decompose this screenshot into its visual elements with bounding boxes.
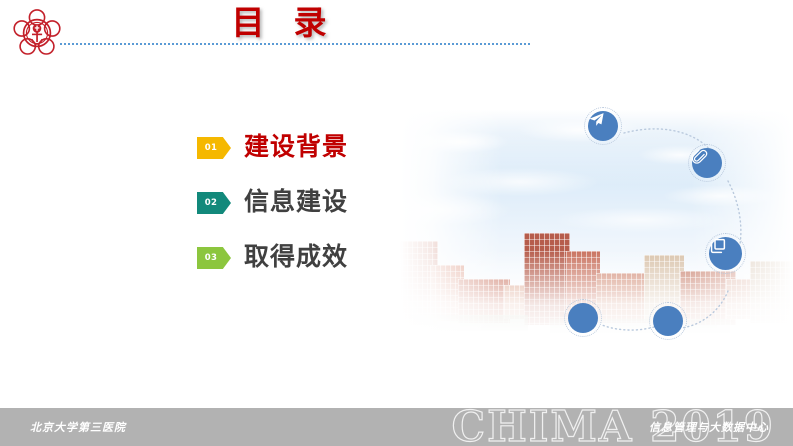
hospital-logo-icon <box>12 8 62 58</box>
node-dot-left[interactable] <box>568 303 598 333</box>
node-paperclip[interactable] <box>692 148 722 178</box>
agenda-label-03: 取得成效 <box>244 237 348 273</box>
slide-canvas: 目 录 01 建设背景 02 信息建设 03 取得成效 <box>0 0 793 446</box>
footer-left-text: 北京大学第三医院 <box>30 419 126 435</box>
node-layers[interactable] <box>709 237 742 270</box>
dot-icon <box>568 303 598 333</box>
paper-plane-icon <box>588 111 605 128</box>
dot-icon <box>653 306 683 336</box>
node-dot-right[interactable] <box>653 306 683 336</box>
footer-bar: CHIMA 2019 北京大学第三医院 信息管理与大数据中心 <box>0 408 793 446</box>
agenda-number-badge-01: 01 <box>197 137 231 159</box>
agenda-label-02: 信息建设 <box>244 182 348 218</box>
decorative-node-graph <box>520 95 793 350</box>
agenda-number-01: 01 <box>205 143 217 153</box>
footer-right-text: 信息管理与大数据中心 <box>649 419 769 435</box>
layers-icon <box>709 237 727 255</box>
agenda-number-badge-02: 02 <box>197 192 231 214</box>
node-paper-plane[interactable] <box>588 111 618 141</box>
agenda-number-03: 03 <box>205 253 217 263</box>
page-title: 目 录 <box>195 2 365 44</box>
agenda-label-01: 建设背景 <box>244 127 348 163</box>
paperclip-icon <box>692 148 709 165</box>
header-divider <box>60 43 530 45</box>
agenda-number-02: 02 <box>205 198 217 208</box>
agenda-number-badge-03: 03 <box>197 247 231 269</box>
